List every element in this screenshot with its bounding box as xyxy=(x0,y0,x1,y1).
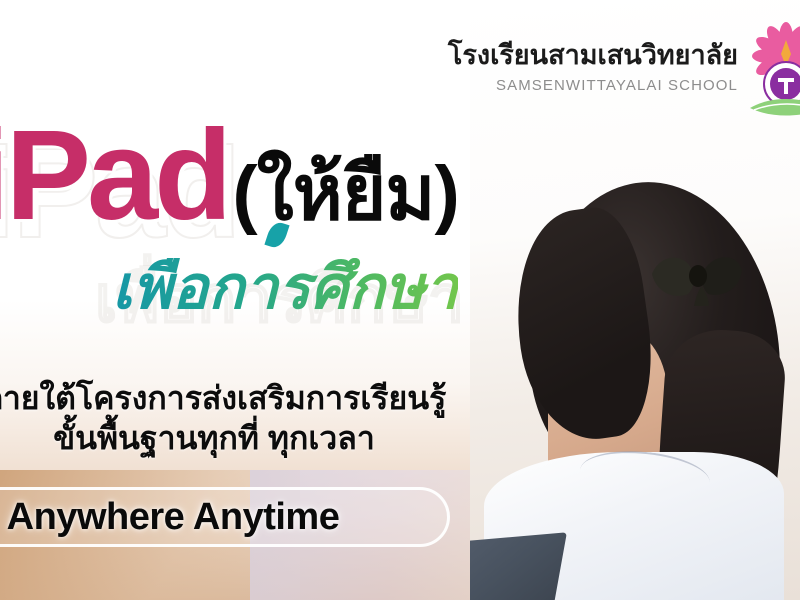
school-name-thai: โรงเรียนสามเสนวิทยาลัย xyxy=(318,40,738,71)
subtitle-for-education: เพื่อการศึกษา xyxy=(112,258,458,318)
main-title: iPad (ให้ยืม) xyxy=(0,112,459,240)
anywhere-anytime-label: Anywhere Anytime xyxy=(7,496,340,539)
body-line-1: ภายใต้โครงการส่งเสริมการเรียนรู้ xyxy=(0,378,464,418)
body-copy: ภายใต้โครงการส่งเสริมการเรียนรู้ ขั้นพื้… xyxy=(0,378,464,459)
anywhere-anytime-pill: Anywhere Anytime xyxy=(0,487,450,547)
school-name-english: SAMSENWITTAYALAI SCHOOL xyxy=(318,77,738,94)
product-qualifier: (ให้ยืม) xyxy=(232,156,458,232)
school-header: โรงเรียนสามเสนวิทยาลัย SAMSENWITTAYALAI … xyxy=(318,40,738,94)
body-line-2: ขั้นพื้นฐานทุกที่ ทุกเวลา xyxy=(0,418,464,458)
school-crest-icon xyxy=(744,22,800,132)
hair-ribbon-bow-icon xyxy=(648,248,746,306)
poster-canvas: iPad เพื่อการศึกษา โรงเรียนสามเสนวิทยาลั… xyxy=(0,0,800,600)
product-title: iPad xyxy=(0,112,228,240)
laptop-lid xyxy=(470,532,567,600)
